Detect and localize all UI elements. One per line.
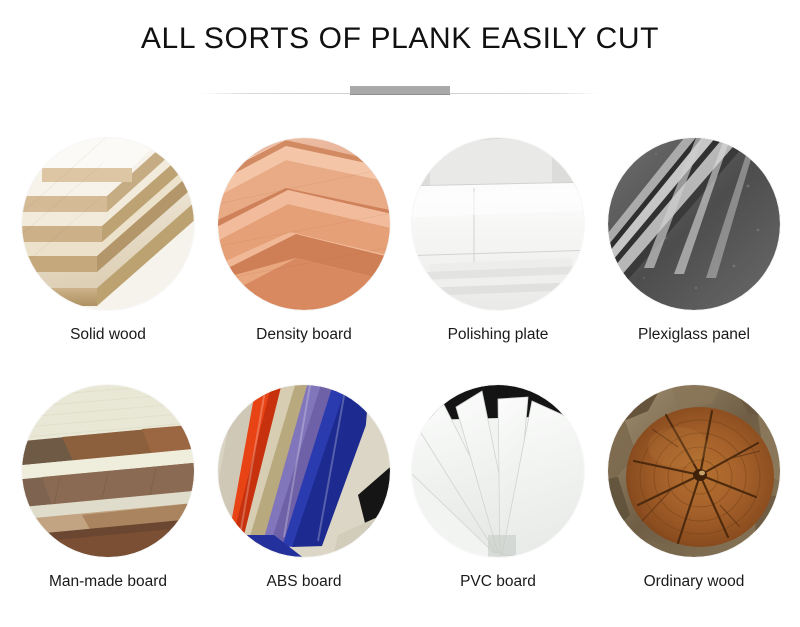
gallery-row: Solid wood: [0, 130, 800, 377]
gallery-item-density-board[interactable]: Density board: [206, 130, 402, 344]
gallery-item-label: Plexiglass panel: [596, 326, 792, 344]
gallery-item-label: Polishing plate: [400, 326, 596, 344]
gallery-row: Man-made board: [0, 377, 800, 624]
density-board-stack-photo[interactable]: [218, 138, 390, 310]
divider-block: [350, 86, 450, 95]
gallery-item-label: Ordinary wood: [596, 573, 792, 591]
man-made-board-layers-photo[interactable]: [22, 385, 194, 557]
plexiglass-panel-photo[interactable]: [608, 138, 780, 310]
gallery-item-label: Man-made board: [10, 573, 206, 591]
gallery-item-ordinary-wood[interactable]: Ordinary wood: [596, 377, 792, 591]
page-title: ALL SORTS OF PLANK EASILY CUT: [0, 22, 800, 56]
gallery-item-polishing-plate[interactable]: Polishing plate: [400, 130, 596, 344]
abs-board-colors-photo[interactable]: [218, 385, 390, 557]
gallery-item-label: Solid wood: [10, 326, 206, 344]
solid-wood-planks-photo[interactable]: [22, 138, 194, 310]
gallery-item-label: Density board: [206, 326, 402, 344]
gallery-item-abs-board[interactable]: ABS board: [206, 377, 402, 591]
pvc-board-sheets-photo[interactable]: [412, 385, 584, 557]
material-gallery: Solid wood: [0, 130, 800, 624]
gallery-item-label: PVC board: [400, 573, 596, 591]
divider-ornament: [200, 86, 600, 95]
ordinary-wood-log-photo[interactable]: [608, 385, 780, 557]
gallery-item-solid-wood[interactable]: Solid wood: [10, 130, 206, 344]
gallery-item-man-made-board[interactable]: Man-made board: [10, 377, 206, 591]
gallery-item-plexiglass-panel[interactable]: Plexiglass panel: [596, 130, 792, 344]
gallery-item-label: ABS board: [206, 573, 402, 591]
polishing-plate-photo[interactable]: [412, 138, 584, 310]
gallery-item-pvc-board[interactable]: PVC board: [400, 377, 596, 591]
